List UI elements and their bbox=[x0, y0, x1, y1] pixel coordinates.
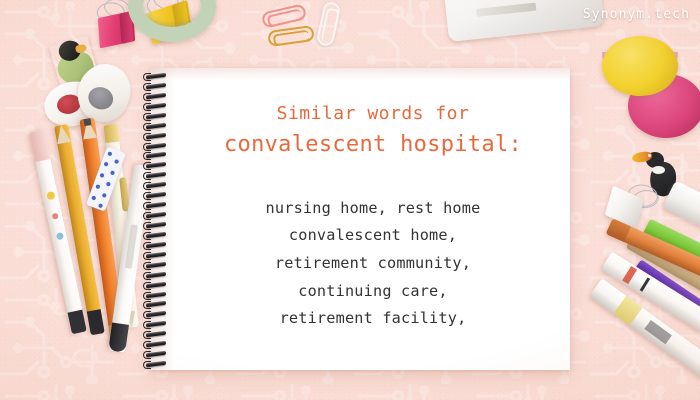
spiral-coil bbox=[143, 193, 168, 198]
spiral-coil bbox=[143, 213, 168, 218]
spiral-coil bbox=[143, 362, 168, 367]
spiral-coil bbox=[143, 263, 168, 268]
spiral-coil bbox=[143, 144, 168, 149]
spiral-coil bbox=[143, 332, 168, 337]
spiral-binding bbox=[143, 72, 169, 370]
spiral-coil bbox=[143, 203, 168, 208]
spiral-coil bbox=[143, 233, 168, 238]
spiral-coil bbox=[143, 114, 168, 119]
spiral-coil bbox=[143, 183, 168, 188]
spiral-coil bbox=[143, 104, 168, 109]
spiral-coil bbox=[143, 173, 168, 178]
spiral-coil bbox=[143, 253, 168, 258]
spiral-coil bbox=[143, 74, 168, 79]
macaron-yellow bbox=[602, 36, 678, 96]
spiral-coil bbox=[143, 134, 168, 139]
spiral-coil bbox=[143, 342, 168, 347]
spiral-coil bbox=[143, 322, 168, 327]
spiral-coil bbox=[143, 273, 168, 278]
spiral-coil bbox=[143, 223, 168, 228]
spiral-coil bbox=[143, 352, 168, 357]
notepad-top-shadow bbox=[150, 68, 570, 80]
spiral-coil bbox=[143, 283, 168, 288]
spiral-coil bbox=[143, 302, 168, 307]
spiral-coil bbox=[143, 163, 168, 168]
spiral-coil bbox=[143, 312, 168, 317]
site-logo: Synonym.tech bbox=[583, 7, 690, 22]
spiral-coil bbox=[143, 153, 168, 158]
synonym-card-image: Similar words for convalescent hospital:… bbox=[0, 0, 700, 400]
spiral-coil bbox=[143, 94, 168, 99]
spiral-coil bbox=[143, 124, 168, 129]
spiral-coil bbox=[143, 293, 168, 298]
spiral-coil bbox=[143, 84, 168, 89]
spiral-coil bbox=[143, 243, 168, 248]
washi-tape-mint bbox=[128, 0, 216, 42]
notepad-page bbox=[150, 68, 570, 370]
